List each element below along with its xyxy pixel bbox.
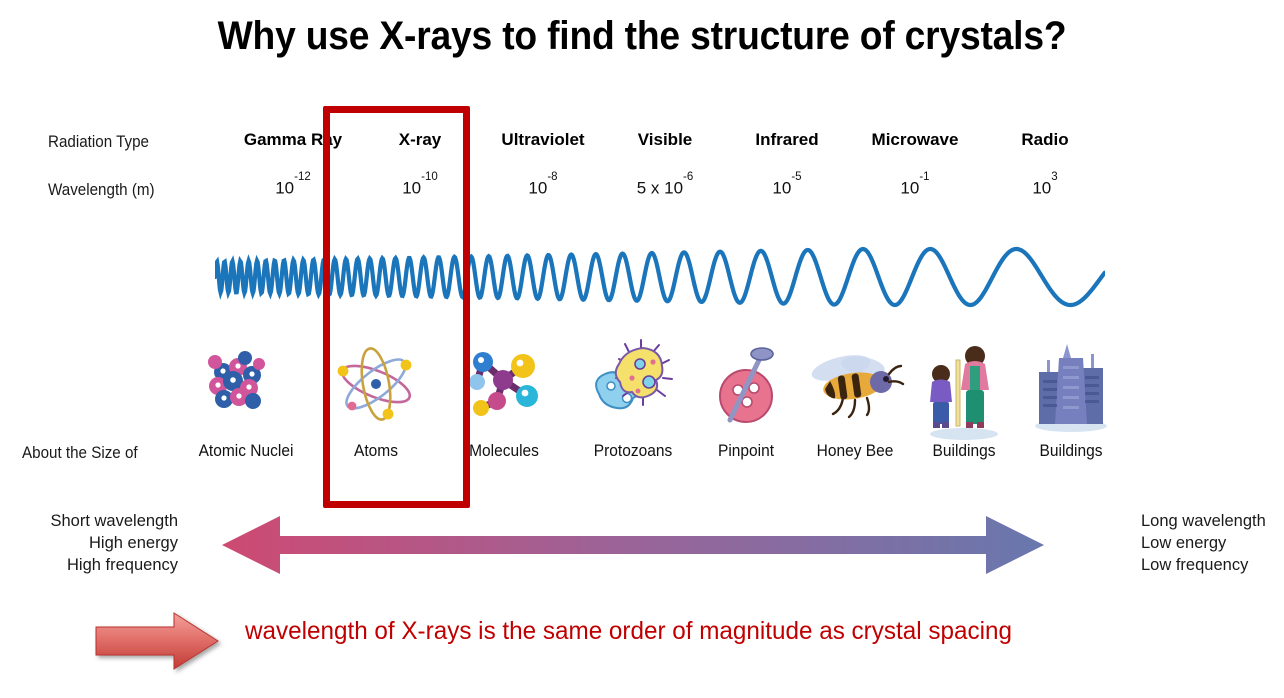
band-name-visible: Visible <box>638 130 693 150</box>
red-block-arrow <box>88 608 228 676</box>
note-line-long-wavelength: Long wavelength <box>1141 511 1266 533</box>
slide-canvas: Why use X-rays to find the structure of … <box>0 0 1284 698</box>
caption-text: wavelength of X-rays is the same order o… <box>245 617 1012 646</box>
row-label-radiation-type: Radiation Type <box>48 133 149 152</box>
humans-icon <box>921 338 1007 442</box>
icon-slot-honey-bee <box>800 338 910 434</box>
wavelength-direction-arrow <box>218 512 1048 578</box>
size-label-buildings: Buildings <box>1040 442 1103 461</box>
wavelength-value-microwave: 10-1 <box>900 178 929 199</box>
page-title: Why use X-rays to find the structure of … <box>45 14 1239 59</box>
note-line-short-wavelength: Short wavelength <box>10 511 178 533</box>
icon-slot-humans <box>909 338 1019 434</box>
honeybee-icon <box>803 338 907 428</box>
note-line-high-frequency: High frequency <box>10 555 178 577</box>
x-ray-highlight-box <box>323 106 470 508</box>
icon-slot-protozoans <box>578 338 688 434</box>
band-name-infrared: Infrared <box>755 130 818 150</box>
note-line-low-energy: Low energy <box>1141 533 1266 555</box>
note-line-high-energy: High energy <box>10 533 178 555</box>
wavelength-value-visible: 5 x 10-6 <box>637 178 694 199</box>
size-label-protozoans: Protozoans <box>594 442 672 461</box>
wavelength-value-gamma-ray: 10-12 <box>275 178 311 199</box>
short-wavelength-note: Short wavelength High energy High freque… <box>10 511 178 576</box>
pinpoint-icon <box>700 338 792 434</box>
protozoan-icon <box>581 338 685 430</box>
icon-slot-buildings <box>1016 338 1126 434</box>
atomic-nucleus-icon <box>193 338 279 430</box>
wavelength-value-radio: 103 <box>1032 178 1057 199</box>
size-label-humans: Buildings <box>933 442 996 461</box>
row-label-about-the-size-of: About the Size of <box>22 444 138 463</box>
icon-slot-pinpoint <box>691 338 801 434</box>
icon-slot-atomic-nuclei <box>181 338 291 434</box>
row-label-wavelength: Wavelength (m) <box>48 181 155 200</box>
band-name-radio: Radio <box>1021 130 1068 150</box>
band-name-microwave: Microwave <box>872 130 959 150</box>
band-name-ultraviolet: Ultraviolet <box>501 130 584 150</box>
size-label-pinpoint: Pinpoint <box>718 442 774 461</box>
molecule-icon <box>457 338 549 430</box>
size-label-honey-bee: Honey Bee <box>817 442 894 461</box>
size-label-molecules: Molecules <box>469 442 539 461</box>
wavelength-value-infrared: 10-5 <box>772 178 801 199</box>
wavelength-value-ultraviolet: 10-8 <box>528 178 557 199</box>
note-line-low-frequency: Low frequency <box>1141 555 1266 577</box>
size-label-atomic-nuclei: Atomic Nuclei <box>199 442 294 461</box>
buildings-icon <box>1025 338 1117 434</box>
long-wavelength-note: Long wavelength Low energy Low frequency <box>1141 511 1266 576</box>
